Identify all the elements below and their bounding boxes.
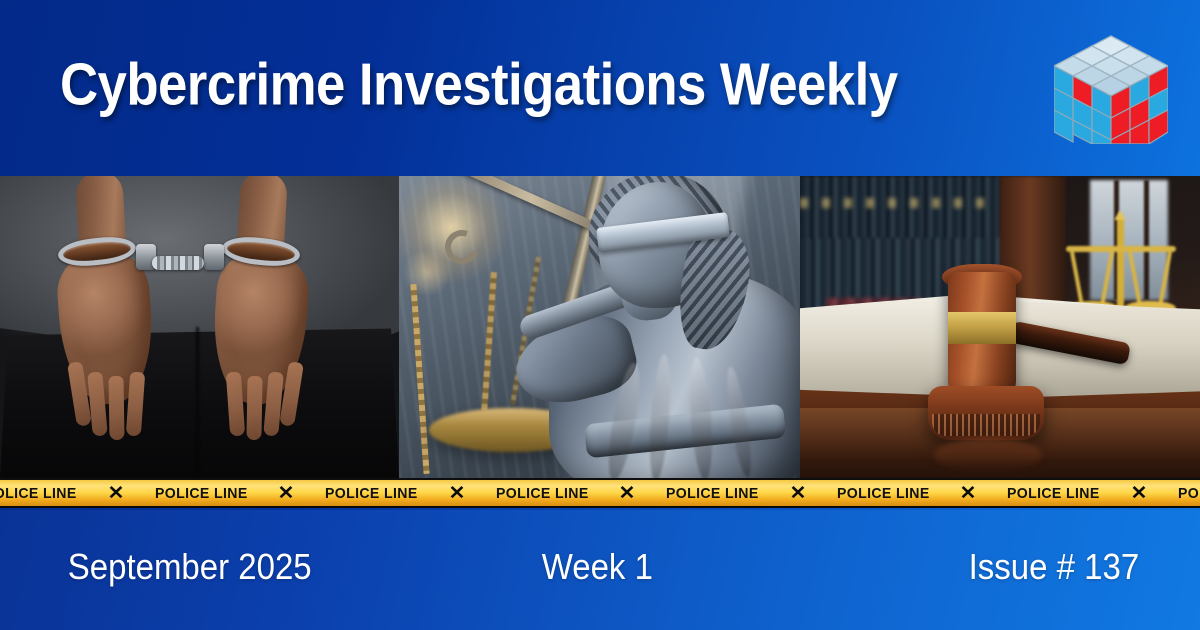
police-line-label: POLICE LINE bbox=[138, 485, 263, 502]
tape-x-icon: ✕ bbox=[778, 482, 818, 505]
cube-logo-icon bbox=[1054, 32, 1168, 144]
tape-x-icon: ✕ bbox=[266, 482, 306, 505]
police-line-label: POLICE LINE bbox=[820, 485, 945, 502]
banner-footer: September 2025 Week 1 Issue # 137 bbox=[0, 510, 1200, 630]
police-tape-track: POLICE LINE✕POLICE LINE✕POLICE LINE✕POLI… bbox=[0, 482, 1200, 505]
issue-number: Issue # 137 bbox=[969, 547, 1140, 588]
tape-x-icon: ✕ bbox=[1119, 482, 1159, 505]
gavel-courtroom-photo bbox=[800, 176, 1200, 478]
tape-x-icon: ✕ bbox=[948, 482, 988, 505]
issue-date: September 2025 bbox=[68, 547, 312, 588]
police-line-label: POLICE LINE bbox=[309, 485, 434, 502]
tape-x-icon: ✕ bbox=[96, 482, 136, 505]
page-title: Cybercrime Investigations Weekly bbox=[60, 49, 897, 118]
handcuffed-suspect-photo bbox=[0, 176, 399, 478]
tape-x-icon: ✕ bbox=[437, 482, 477, 505]
photo-strip bbox=[0, 176, 1200, 478]
lady-justice-photo bbox=[399, 176, 800, 478]
police-line-label: POLICE LINE bbox=[650, 485, 775, 502]
banner-header: Cybercrime Investigations Weekly bbox=[0, 0, 1200, 176]
police-line-tape: POLICE LINE✕POLICE LINE✕POLICE LINE✕POLI… bbox=[0, 478, 1200, 508]
police-line-label: POLICE LINE bbox=[991, 485, 1116, 502]
police-line-label: POLICE LINE bbox=[0, 485, 93, 502]
newsletter-banner: Cybercrime Investigations Weekly bbox=[0, 0, 1200, 630]
police-line-label: POLICE LINE bbox=[1161, 485, 1200, 502]
issue-week: Week 1 bbox=[542, 547, 653, 588]
police-line-label: POLICE LINE bbox=[479, 485, 604, 502]
tape-x-icon: ✕ bbox=[607, 482, 647, 505]
